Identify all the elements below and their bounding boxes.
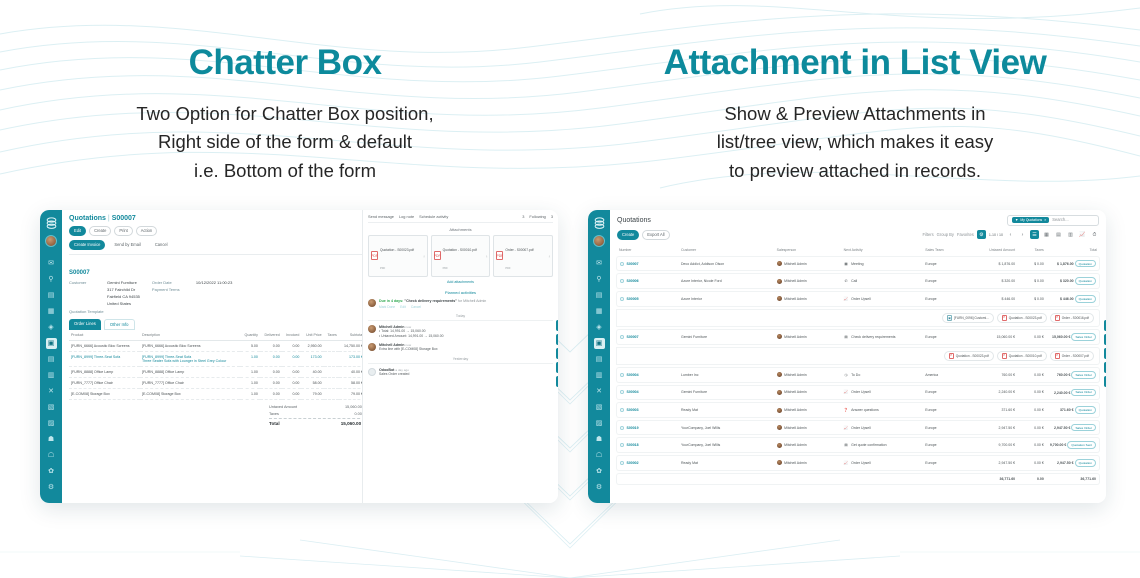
col-untaxed-amount[interactable]: Untaxed Amount xyxy=(965,246,1018,254)
sidebar-icon-settings[interactable]: ⚙ xyxy=(46,482,57,493)
sidebar-icon-sales[interactable]: ▣ xyxy=(594,338,605,349)
activity-label: Get quote confirmation xyxy=(851,443,886,447)
record-toggle-icon[interactable] xyxy=(620,262,624,266)
order-line-row[interactable]: [FURN_7777] Office Chair[FURN_7777] Offi… xyxy=(69,377,365,388)
attachment-chip[interactable]: ▣[FURN_0096] Customi... xyxy=(942,313,994,323)
order-line-row[interactable]: [FURN_8888] Office Lamp[FURN_8888] Offic… xyxy=(69,366,365,377)
quotations-table: Number Customer Salesperson Next Activit… xyxy=(610,244,1106,487)
col-next-activity[interactable]: Next Activity xyxy=(841,246,923,254)
col-description[interactable]: Description xyxy=(140,330,240,341)
attachment-name: Order - S00016.pdf xyxy=(1062,316,1089,320)
field-value: 317 Fairchild Dr xyxy=(107,287,135,292)
activity-assignee: for Mitchell Admin xyxy=(458,299,486,303)
page-title: Quotations xyxy=(617,217,651,224)
avatar xyxy=(777,443,782,448)
cell-salesperson: Mitchell Admin xyxy=(774,385,841,401)
mark-done-link[interactable]: Mark Done xyxy=(379,305,395,309)
field-label xyxy=(69,294,101,299)
table-row[interactable]: S00002Ready MatMitchell Admin📈Order Upse… xyxy=(616,455,1100,471)
cell-customer: Ready Mat xyxy=(678,402,774,418)
sidebar-icon-messages[interactable]: ✉ xyxy=(594,258,605,269)
cell-untaxed: $ 320.00 xyxy=(965,273,1018,289)
attachment-chip[interactable]: PDFQuotation - S00010.pdfPDF⤓ xyxy=(431,235,491,277)
list-icon[interactable]: ☰ xyxy=(1030,230,1039,239)
sidebar-icon-recruitment[interactable]: ☖ xyxy=(46,450,57,461)
cell-next-activity: ▦Meeting xyxy=(841,256,923,272)
sidebar-icon-website[interactable]: ◈ xyxy=(46,322,57,333)
form-action-fab-rail: ★ ⌕ ⛶ ⎙ ▣ xyxy=(556,320,558,387)
breadcrumb-root[interactable]: Quotations xyxy=(69,215,106,222)
salesperson-name: Mitchell Admin xyxy=(784,426,807,430)
activity-type-icon: ◷ xyxy=(844,372,849,377)
pdf-icon: P xyxy=(1055,353,1060,359)
pdf-icon: PDF xyxy=(434,251,441,260)
cell-sales-team: Europe xyxy=(922,385,965,401)
notebook-tabs: Order Lines Other Info xyxy=(69,319,365,330)
tab-order-lines[interactable]: Order Lines xyxy=(69,319,101,330)
sidebar-icon-crm[interactable]: ⚲ xyxy=(594,274,605,285)
table-row[interactable]: S00007Deco Addict, Addison OlsonMitchell… xyxy=(616,256,1100,272)
cell-sales-team: America xyxy=(922,367,965,383)
cell-salesperson: Mitchell Admin xyxy=(774,367,841,383)
salesperson-name: Mitchell Admin xyxy=(784,408,807,412)
record-number[interactable]: S00004 xyxy=(627,373,639,377)
record-number[interactable]: S00005 xyxy=(627,297,639,301)
attachment-cell: ▣[FURN_0096] Customi...PQuotation - S000… xyxy=(616,309,1100,327)
sidebar-icon-calendar[interactable]: ▤ xyxy=(594,290,605,301)
field-customer: Customer Gemini Furniture xyxy=(69,280,140,285)
cell-taxes xyxy=(324,377,339,388)
create-button[interactable]: Create xyxy=(617,230,639,240)
status-badge: Quotation xyxy=(1075,277,1096,285)
odoo-logo-icon xyxy=(592,215,607,230)
pdf-icon: P xyxy=(1002,353,1007,359)
total-label: Total xyxy=(269,421,280,426)
total-label: Taxes xyxy=(269,412,279,416)
cell-customer: Ready Mat xyxy=(678,455,774,471)
image-icon: ▣ xyxy=(947,315,952,321)
record-toggle-icon[interactable] xyxy=(620,426,624,430)
table-row[interactable]: S00004Lumber IncMitchell Admin◷To DoAmer… xyxy=(616,367,1100,383)
record-toggle-icon[interactable] xyxy=(620,373,624,377)
sidebar-icon-purchase[interactable]: ✕ xyxy=(594,386,605,397)
attachment-row: ▣[FURN_0096] Customi...PQuotation - S000… xyxy=(616,309,1100,327)
record-toggle-icon[interactable] xyxy=(620,390,624,394)
attachment-name: Order - S00007.pdf xyxy=(1062,354,1089,358)
activity-type-icon: ▦ xyxy=(844,261,849,266)
cell-delivered: 0.00 xyxy=(260,377,282,388)
field-value: United States xyxy=(107,301,131,306)
cell-next-activity: ❓Answer questions xyxy=(841,402,923,418)
attachment-ext: PDF xyxy=(505,267,510,270)
cell-taxes: 0.00 € xyxy=(1018,420,1047,436)
chatter-message: Mitchell Admin now• Total: 14,991.00 → 1… xyxy=(368,325,553,339)
field-payment-terms: Payment Terms xyxy=(152,287,232,292)
cell-description: [FURN_7777] Office Chair xyxy=(140,377,240,388)
attachment-chip[interactable]: PDFOrder - S00007.pdfPDF⤓ xyxy=(493,235,553,277)
record-toggle-icon[interactable] xyxy=(620,443,624,447)
col-unit-price[interactable]: Unit Price xyxy=(301,330,323,341)
cell-salesperson: Mitchell Admin xyxy=(774,273,841,289)
activity-label: Answer questions xyxy=(851,408,879,412)
record-toggle-icon[interactable] xyxy=(620,335,624,339)
sidebar-icon-contacts[interactable]: ▦ xyxy=(594,306,605,317)
cell-sales-team: Europe xyxy=(922,402,965,418)
form-view-body: Quotations | S00007 Edit Create Print Ac… xyxy=(62,210,558,503)
cell-product: [FURN_8999] Three-Seat Sofa xyxy=(69,351,140,366)
expand-icon[interactable]: ⛶ xyxy=(556,348,558,359)
expand-icon[interactable]: ⛶ xyxy=(1104,348,1106,359)
field-address-2: Fairfield CA 94535 xyxy=(69,294,140,299)
create-invoice-button[interactable]: Create Invoice xyxy=(69,240,105,250)
avatar xyxy=(368,343,376,351)
schedule-activity-button[interactable]: Schedule activity xyxy=(419,214,448,219)
salesperson-name: Mitchell Admin xyxy=(784,279,807,283)
activity-icon[interactable]: ⏱ xyxy=(1090,230,1099,239)
cell-description: [FURN_8888] Office Lamp xyxy=(140,366,240,377)
settings-icon[interactable]: ⚙ xyxy=(977,230,986,239)
col-customer[interactable]: Customer xyxy=(678,246,774,254)
action-button[interactable]: Action xyxy=(136,226,157,236)
sidebar-icon-website[interactable]: ◈ xyxy=(594,322,605,333)
export-all-button[interactable]: Export All xyxy=(642,230,669,240)
record-toggle-icon[interactable] xyxy=(620,279,624,283)
following-button[interactable]: Following xyxy=(529,214,545,219)
message-time: now xyxy=(405,325,411,329)
cell-next-activity: 📈Order Upsell xyxy=(841,291,923,307)
col-taxes[interactable]: Taxes xyxy=(324,330,339,341)
cell-unit-price: 2,950.00 xyxy=(301,340,323,351)
attachment-chip[interactable]: PQuotation - S00023.pdf xyxy=(944,351,994,361)
sidebar-icon-crm[interactable]: ⚲ xyxy=(46,274,57,285)
save-icon[interactable]: ▣ xyxy=(1104,376,1106,387)
status-badge: Quotation xyxy=(1075,459,1096,467)
col-number[interactable]: Number xyxy=(616,246,678,254)
sidebar-icon-invoicing[interactable]: ▤ xyxy=(594,354,605,365)
promo-subtitle-right: Show & Preview Attachments in list/tree … xyxy=(570,100,1140,186)
cell-sales-team: Europe xyxy=(922,420,965,436)
total-taxes: Taxes 0.00 € xyxy=(269,411,365,418)
sidebar-icon-recruitment[interactable]: ☖ xyxy=(594,450,605,461)
summary-untaxed: 36,771.60 xyxy=(965,473,1018,485)
cell-quantity: 5.00 xyxy=(240,340,260,351)
record-number[interactable]: S00019 xyxy=(627,426,639,430)
attachment-name: Quotation - S00023.pdf xyxy=(956,354,989,358)
salesperson-name: Mitchell Admin xyxy=(784,262,807,266)
log-note-button[interactable]: Log note xyxy=(399,214,414,219)
filters-menu[interactable]: Filters xyxy=(923,232,934,238)
sidebar-icon-inventory[interactable]: ▥ xyxy=(46,370,57,381)
cell-taxes: $ 0.00 xyxy=(1018,256,1047,272)
search-facet-label: My Quotations xyxy=(1020,218,1042,222)
avatar xyxy=(368,299,376,307)
cell-next-activity: ▤Check delivery requirements xyxy=(841,329,923,345)
record-number[interactable]: S00004 xyxy=(627,390,639,394)
favorites-menu[interactable]: Favorites xyxy=(957,232,974,238)
sidebar-icon-apps[interactable]: ✿ xyxy=(594,466,605,477)
download-icon[interactable]: ⤓ xyxy=(423,254,424,258)
total-value: 2,240.00 € xyxy=(1054,390,1071,394)
edit-activity-link[interactable]: Edit xyxy=(400,305,406,309)
total-value: 760.00 € xyxy=(1057,373,1071,377)
table-row[interactable]: S00003Ready MatMitchell Admin❓Answer que… xyxy=(616,402,1100,418)
attachment-chip[interactable]: POrder - S00007.pdf xyxy=(1050,351,1094,361)
activity-label: To Do xyxy=(851,373,860,377)
cell-quantity: 1.00 xyxy=(240,388,260,399)
attachment-chip[interactable]: PQuotation - S00010.pdf xyxy=(997,351,1047,361)
cell-salesperson: Mitchell Admin xyxy=(774,437,841,453)
table-row[interactable]: S00004Gemini FurnitureMitchell Admin📈Ord… xyxy=(616,385,1100,401)
promo-subtitle-left: Two Option for Chatter Box position, Rig… xyxy=(0,100,570,186)
cell-invoiced: 0.00 xyxy=(282,351,302,366)
group-by-menu[interactable]: Group By xyxy=(937,232,954,238)
total-grand: Total 15,060.00 € xyxy=(269,418,365,428)
order-line-row[interactable]: [FURN_6666] Acoustic Bloc Screens[FURN_6… xyxy=(69,340,365,351)
cell-total: 2,240.00 € Sales Order xyxy=(1047,385,1100,401)
avatar xyxy=(777,460,782,465)
sidebar-icon-employees[interactable]: ☗ xyxy=(594,434,605,445)
attachments-header: Attachments xyxy=(368,227,553,232)
cell-sales-team: Europe xyxy=(922,329,965,345)
sidebar-icon-sales[interactable]: ▣ xyxy=(46,338,57,349)
attachment-row: PQuotation - S00023.pdfPQuotation - S000… xyxy=(616,347,1100,365)
cell-total: 15,060.00 € Sales Order xyxy=(1047,329,1100,345)
graph-icon[interactable]: 📈 xyxy=(1078,230,1087,239)
list-header: Quotations ▼ My Quotations × Search... xyxy=(610,210,1106,226)
search-facet[interactable]: ▼ My Quotations × xyxy=(1012,217,1049,223)
follower-count[interactable]: 3 xyxy=(522,214,524,219)
save-icon[interactable]: ▣ xyxy=(556,376,558,387)
total-value: 15,060.00 € xyxy=(1052,335,1071,339)
col-delivered[interactable]: Delivered xyxy=(260,330,282,341)
sidebar-icon-calendar[interactable]: ▤ xyxy=(46,290,57,301)
table-body: S00007Deco Addict, Addison OlsonMitchell… xyxy=(616,256,1100,485)
col-invoiced[interactable]: Invoiced xyxy=(282,330,302,341)
search-icon[interactable]: ⌕ xyxy=(1104,334,1106,345)
send-by-email-button[interactable]: Send by Email xyxy=(109,240,145,250)
cell-customer: Gemini Furniture xyxy=(678,385,774,401)
pivot-icon[interactable]: ▥ xyxy=(1066,230,1075,239)
cell-invoiced: 0.00 xyxy=(282,366,302,377)
cell-total: $ 320.00 Quotation xyxy=(1047,273,1100,289)
attachment-chip[interactable]: POrder - S00016.pdf xyxy=(1050,313,1094,323)
cell-customer: Azure Interior, Nicole Ford xyxy=(678,273,774,289)
attachment-chip[interactable]: PQuotation - S00023.pdf xyxy=(997,313,1047,323)
cell-unit-price: 40.00 xyxy=(301,366,323,377)
promo-title-left: Chatter Box xyxy=(0,44,570,83)
cell-invoiced: 0.00 xyxy=(282,377,302,388)
cell-taxes: 0.00 € xyxy=(1018,402,1047,418)
follower-badge[interactable]: 3 xyxy=(551,214,553,219)
avatar xyxy=(368,325,376,333)
calendar-icon[interactable]: ▤ xyxy=(1054,230,1063,239)
sidebar-icon-manufacturing[interactable]: ▧ xyxy=(46,402,57,413)
add-attachments-button[interactable]: Add attachments xyxy=(368,280,553,284)
record-toggle-icon[interactable] xyxy=(620,297,624,301)
status-badge: Quotation xyxy=(1075,295,1096,303)
table-row[interactable]: S00006Azure Interior, Nicole FordMitchel… xyxy=(616,273,1100,289)
sidebar-icon-purchase[interactable]: ✕ xyxy=(46,386,57,397)
cell-delivered: 0.00 xyxy=(260,366,282,377)
cell-customer: Gemini Furniture xyxy=(678,329,774,345)
send-message-button[interactable]: Send message xyxy=(368,214,394,219)
sidebar-icon-manufacturing[interactable]: ▧ xyxy=(594,402,605,413)
avatar xyxy=(777,261,782,266)
sidebar-icon-messages[interactable]: ✉ xyxy=(46,258,57,269)
message-author[interactable]: Mitchell Admin xyxy=(379,325,404,329)
col-taxes[interactable]: Taxes xyxy=(1018,246,1047,254)
record-number[interactable]: S00007 xyxy=(627,335,639,339)
record-number[interactable]: S00018 xyxy=(627,443,639,447)
attachment-cell: PQuotation - S00023.pdfPQuotation - S000… xyxy=(616,347,1100,365)
cell-unit-price: 79.00 xyxy=(301,388,323,399)
attachment-chip-list: PDFQuotation - S00023.pdfPDF⤓PDFQuotatio… xyxy=(368,235,553,277)
breadcrumb-separator: | xyxy=(108,215,110,222)
cell-taxes xyxy=(324,366,339,377)
activity-due: Due in 4 days: xyxy=(379,299,403,303)
cell-salesperson: Mitchell Admin xyxy=(774,420,841,436)
cell-sales-team: Europe xyxy=(922,291,965,307)
status-badge: Quotation Sent xyxy=(1067,441,1096,449)
record-toggle-icon[interactable] xyxy=(620,461,624,465)
cell-total: 371.60 € Quotation xyxy=(1047,402,1100,418)
table-row[interactable]: S00007Gemini FurnitureMitchell Admin▤Che… xyxy=(616,329,1100,345)
cell-next-activity: 📈Order Upsell xyxy=(841,420,923,436)
activity-label: Order Upsell xyxy=(851,426,871,430)
field-label xyxy=(69,301,101,306)
cell-untaxed: 2,947.50 € xyxy=(965,420,1018,436)
record-number[interactable]: S00002 xyxy=(627,461,639,465)
star-icon[interactable]: ★ xyxy=(1104,320,1106,331)
cell-taxes: 0.00 € xyxy=(1018,329,1047,345)
close-icon[interactable]: × xyxy=(1044,218,1046,222)
cancel-button[interactable]: Cancel xyxy=(150,240,173,250)
order-lines-body: [FURN_6666] Acoustic Bloc Screens[FURN_6… xyxy=(69,340,365,399)
order-lines-header: Product Description Quantity Delivered I… xyxy=(69,330,365,341)
activity-label: Order Upsell xyxy=(851,390,871,394)
download-icon[interactable]: ⤓ xyxy=(486,254,487,258)
cell-number: S00003 xyxy=(616,402,678,418)
cell-number: S00004 xyxy=(616,385,678,401)
cell-taxes xyxy=(324,388,339,399)
sidebar-icon-settings[interactable]: ⚙ xyxy=(594,482,605,493)
cell-sales-team: Europe xyxy=(922,273,965,289)
cell-quantity: 1.00 xyxy=(240,351,260,366)
cell-total: 9,700.00 € Quotation Sent xyxy=(1047,437,1100,453)
record-number[interactable]: S00003 xyxy=(627,408,639,412)
chatter-actions: Send message Log note Schedule activity … xyxy=(368,214,553,223)
search-icon[interactable]: ⌕ xyxy=(556,334,558,345)
form-view-screenshot: ✉ ⚲ ▤ ▦ ◈ ▣ ▤ ▥ ✕ ▧ ▨ ☗ ☖ ✿ ⚙ Quotations xyxy=(40,210,558,503)
list-action-fab-rail: ★ ⌕ ⛶ ⎙ ▣ xyxy=(1104,320,1106,387)
col-product[interactable]: Product xyxy=(69,330,140,341)
pager-prev-button[interactable]: ‹ xyxy=(1006,230,1015,239)
cell-untaxed: $ 446.00 xyxy=(965,291,1018,307)
odoo-logo-icon xyxy=(44,215,59,230)
cell-quantity: 1.00 xyxy=(240,377,260,388)
cell-customer: Azure Interior xyxy=(678,291,774,307)
cell-number: S00007 xyxy=(616,329,678,345)
app-sidebar-rail-2: ✉ ⚲ ▤ ▦ ◈ ▣ ▤ ▥ ✕ ▧ ▨ ☗ ☖ ✿ ⚙ xyxy=(588,210,610,503)
field-value[interactable]: Gemini Furniture xyxy=(107,280,137,285)
activity-type-icon: 📈 xyxy=(844,296,849,301)
col-total[interactable]: Total xyxy=(1047,246,1100,254)
cell-delivered: 0.00 xyxy=(260,351,282,366)
search-input[interactable]: ▼ My Quotations × Search... xyxy=(1007,215,1099,226)
planned-activities-header: Planned activities xyxy=(368,290,553,295)
sidebar-icon-employees[interactable]: ☗ xyxy=(46,434,57,445)
order-line-row[interactable]: [FURN_8999] Three-Seat Sofa[FURN_8999] T… xyxy=(69,351,365,366)
download-icon[interactable]: ⤓ xyxy=(549,254,550,258)
record-toggle-icon[interactable] xyxy=(620,408,624,412)
cell-total: $ 446.00 Quotation xyxy=(1047,291,1100,307)
cell-untaxed: 760.00 € xyxy=(965,367,1018,383)
kanban-icon[interactable]: ▦ xyxy=(1042,230,1051,239)
activity-subject: "Check delivery requirements" xyxy=(404,299,457,303)
field-address-3: United States xyxy=(69,301,140,306)
create-button[interactable]: Create xyxy=(89,226,111,236)
activity-label: Order Upsell xyxy=(851,297,871,301)
table-row[interactable]: S00019YourCompany, Joel WillisMitchell A… xyxy=(616,420,1100,436)
order-line-row[interactable]: [E-COM08] Storage Box[E-COM08] Storage B… xyxy=(69,388,365,399)
activity-label: Check delivery requirements xyxy=(851,335,895,339)
col-quantity[interactable]: Quantity xyxy=(240,330,260,341)
print-button[interactable]: Print xyxy=(114,226,132,236)
sidebar-icon-project[interactable]: ▨ xyxy=(594,418,605,429)
cell-untaxed: 371.60 € xyxy=(965,402,1018,418)
pdf-icon: PDF xyxy=(496,251,503,260)
sidebar-icon-invoicing[interactable]: ▤ xyxy=(46,354,57,365)
record-number[interactable]: S00007 xyxy=(627,262,639,266)
total-value: $ 1,876.00 xyxy=(1057,262,1074,266)
cell-sales-team: Europe xyxy=(922,437,965,453)
cell-description: [E-COM08] Storage Box xyxy=(140,388,240,399)
summary-spacer xyxy=(616,473,965,485)
record-number[interactable]: S00006 xyxy=(627,279,639,283)
cell-sales-team: Europe xyxy=(922,256,965,272)
field-label: Payment Terms xyxy=(152,287,190,292)
cell-product: [FURN_7777] Office Chair xyxy=(69,377,140,388)
star-icon[interactable]: ★ xyxy=(556,320,558,331)
total-value: 2,947.50 € xyxy=(1054,426,1071,430)
cancel-activity-link[interactable]: Cancel xyxy=(411,305,421,309)
col-salesperson[interactable]: Salesperson xyxy=(774,246,841,254)
user-avatar[interactable] xyxy=(45,235,57,247)
pager-next-button[interactable]: › xyxy=(1018,230,1027,239)
attachment-name: Quotation - S00023.pdf xyxy=(1009,316,1042,320)
print-icon[interactable]: ⎙ xyxy=(1104,362,1106,373)
field-label: Quotation Template xyxy=(69,309,104,314)
table-row[interactable]: S00018YourCompany, Joel WillisMitchell A… xyxy=(616,437,1100,453)
print-icon[interactable]: ⎙ xyxy=(556,362,558,373)
attachment-ext: PDF xyxy=(443,267,448,270)
edit-button[interactable]: Edit xyxy=(69,226,86,236)
sidebar-icon-project[interactable]: ▨ xyxy=(46,418,57,429)
col-sales-team[interactable]: Sales Team xyxy=(922,246,965,254)
user-avatar[interactable] xyxy=(593,235,605,247)
field-label: Customer xyxy=(69,280,101,285)
sidebar-icon-apps[interactable]: ✿ xyxy=(46,466,57,477)
salesperson-name: Mitchell Admin xyxy=(784,297,807,301)
record-title: S00007 xyxy=(69,270,365,276)
sidebar-icon-inventory[interactable]: ▥ xyxy=(594,370,605,381)
tab-other-info[interactable]: Other Info xyxy=(104,319,135,330)
cell-taxes xyxy=(324,351,339,366)
attachment-chip[interactable]: PDFQuotation - S00023.pdfPDF⤓ xyxy=(368,235,428,277)
table-row[interactable]: S00005Azure InteriorMitchell Admin📈Order… xyxy=(616,291,1100,307)
field-value: Fairfield CA 94535 xyxy=(107,294,140,299)
sidebar-icon-contacts[interactable]: ▦ xyxy=(46,306,57,317)
